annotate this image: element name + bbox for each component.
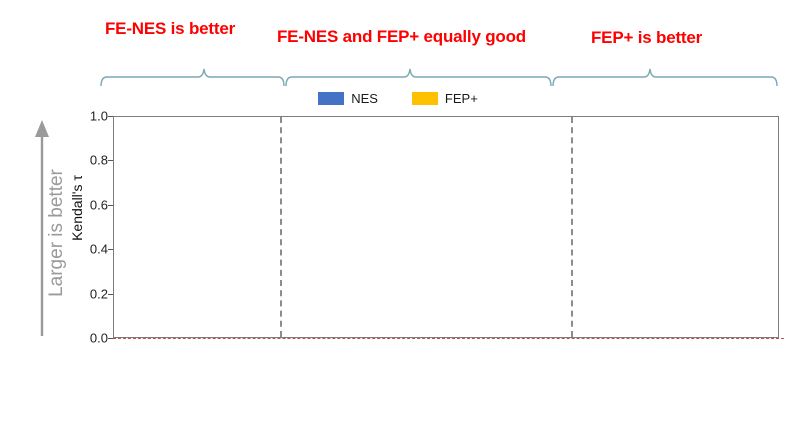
group-divider	[280, 117, 282, 337]
y-tick-mark	[108, 249, 113, 250]
plot-area-wrapper: 0.00.20.40.60.81.0	[0, 0, 796, 436]
y-tick-mark	[108, 116, 113, 117]
x-axis-labels	[0, 338, 796, 436]
plot-axes	[113, 116, 779, 338]
y-tick-label: 0.8	[76, 153, 108, 168]
y-tick-mark	[108, 160, 113, 161]
chart-figure: FE-NES is better FE-NES and FEP+ equally…	[0, 0, 796, 436]
y-tick-mark	[108, 294, 113, 295]
group-divider	[571, 117, 573, 337]
y-tick-mark	[108, 338, 113, 339]
y-tick-label: 0.4	[76, 242, 108, 257]
y-tick-label: 0.2	[76, 286, 108, 301]
y-tick-label: 0.6	[76, 197, 108, 212]
y-tick-mark	[108, 205, 113, 206]
y-tick-label: 1.0	[76, 109, 108, 124]
